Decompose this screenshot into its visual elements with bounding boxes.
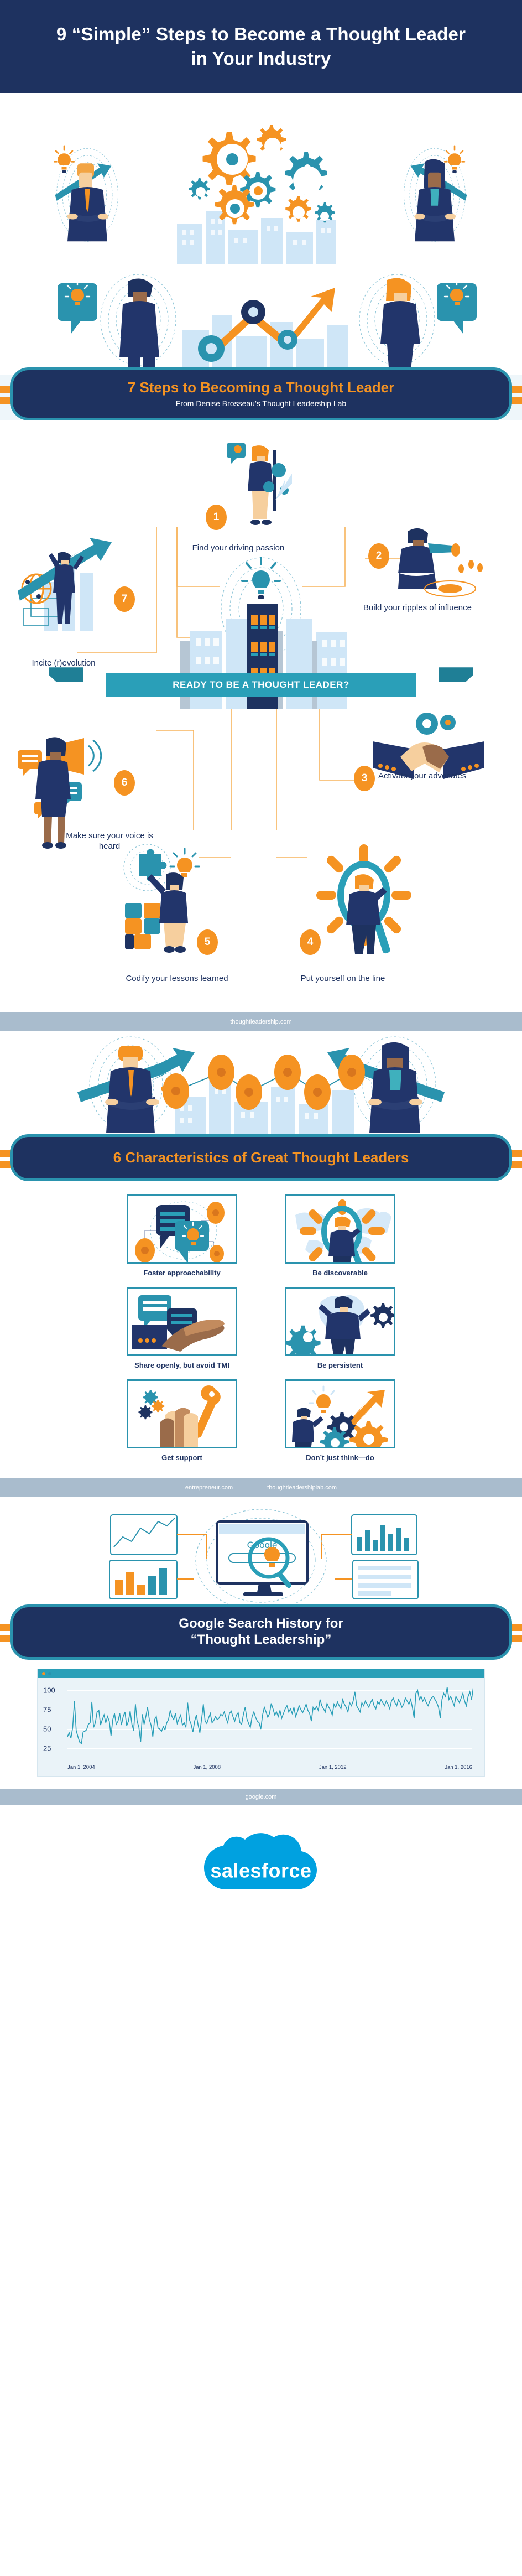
source-bar-two: entrepreneur.com thoughtleadershiplab.co…	[0, 1478, 522, 1497]
characteristic-card: Foster approachability	[127, 1194, 237, 1277]
y-tick-label: 50	[43, 1725, 51, 1733]
idea-bulb-icon	[445, 146, 464, 173]
banner-title-line1: Google Search History for	[51, 1616, 471, 1632]
card-label: Be discoverable	[285, 1269, 395, 1277]
open-hand-icon	[128, 1289, 237, 1356]
speech-bubbles-icon	[128, 1196, 237, 1264]
gear-cluster-graphic	[182, 118, 348, 235]
chart-x-axis: Jan 1, 2004 Jan 1, 2008 Jan 1, 2012 Jan …	[38, 1762, 484, 1776]
card-label: Foster approachability	[127, 1269, 237, 1277]
source-bar-one: thoughtleadership.com	[0, 1012, 522, 1031]
x-tick-label: Jan 1, 2004	[67, 1764, 95, 1770]
y-tick-label: 25	[43, 1744, 51, 1752]
step-3-illustration	[365, 713, 492, 779]
card-illustration	[285, 1379, 395, 1448]
logo-wordmark: salesforce	[192, 1860, 330, 1883]
two-leaders-graphic	[0, 264, 522, 375]
arrow-gears-icon	[286, 1381, 395, 1448]
source-label: thoughtleadership.com	[230, 1019, 291, 1025]
step-label-1: Find your driving passion	[186, 543, 291, 554]
banner-title-line2: “Thought Leadership”	[51, 1632, 471, 1648]
step-2-illustration	[391, 521, 491, 604]
characteristics-grid-section: Foster approachability	[0, 1181, 522, 1478]
characteristic-card: Don’t just think—do	[285, 1379, 395, 1462]
section-google-search: Google Google Search History for “Though…	[0, 1497, 522, 1805]
step-number-4: 4	[300, 929, 321, 955]
step-label-2: Build your ripples of influence	[348, 603, 487, 614]
step-number-2: 2	[368, 543, 389, 569]
step-7-illustration	[11, 520, 116, 631]
step-number-1: 1	[206, 505, 227, 530]
seven-steps-diagram: 1 Find your driving passion	[0, 420, 522, 1012]
search-trend-chart: 100 75 50 25 Jan 1, 2004 Jan 1, 2008 Jan…	[37, 1669, 485, 1777]
salesforce-logo-section: salesforce	[0, 1805, 522, 1940]
step-label-4: Put yourself on the line	[276, 974, 409, 984]
banner-title: 7 Steps to Becoming a Thought Leader	[51, 379, 471, 396]
businesswoman-figure-right	[401, 127, 468, 260]
idea-bulb-icon	[242, 558, 280, 599]
section-seven-steps: 7 Steps to Becoming a Thought Leader Fro…	[0, 264, 522, 1031]
source-label: thoughtleadershiplab.com	[267, 1484, 337, 1491]
banner-title: 6 Characteristics of Great Thought Leade…	[51, 1149, 471, 1166]
card-label: Get support	[127, 1453, 237, 1462]
infographic-page: 9 “Simple” Steps to Become a Thought Lea…	[0, 0, 522, 1940]
businessman-figure-left	[54, 127, 121, 260]
card-label: Don’t just think—do	[285, 1453, 395, 1462]
speech-bubble-bulb-icon	[437, 281, 477, 334]
banner-seven-steps: 7 Steps to Becoming a Thought Leader Fro…	[0, 367, 522, 420]
businessman-figure	[105, 1046, 159, 1133]
hands-wrench-icon	[128, 1381, 237, 1448]
salesforce-logo: salesforce	[192, 1829, 330, 1912]
step-5-illustration	[115, 841, 209, 957]
step-label-7: Incite (r)evolution	[11, 658, 116, 669]
card-illustration	[285, 1194, 395, 1264]
characteristic-card: Be discoverable	[285, 1194, 395, 1277]
card-label: Share openly, but avoid TMI	[127, 1361, 237, 1369]
page-title: 9 “Simple” Steps to Become a Thought Lea…	[51, 22, 471, 70]
monitor-illustration: Google	[0, 1507, 522, 1612]
x-tick-label: Jan 1, 2008	[193, 1764, 221, 1770]
stacked-hands-icon	[160, 1408, 198, 1449]
card-illustration	[285, 1287, 395, 1356]
y-tick-label: 75	[43, 1705, 51, 1713]
characteristic-card: Be persistent	[285, 1287, 395, 1369]
section-six-characteristics: 6 Characteristics of Great Thought Leade…	[0, 1031, 522, 1497]
step-label-6: Make sure your voice is heard	[60, 831, 159, 852]
section-two-illustration	[0, 1031, 522, 1142]
characteristic-card: Get support	[127, 1379, 237, 1462]
gears-person-icon	[286, 1289, 395, 1356]
window-dot-orange	[42, 1672, 45, 1675]
source-bar-three: google.com	[0, 1789, 522, 1805]
idea-bulb-icon	[54, 146, 74, 173]
step-1-illustration	[226, 439, 292, 533]
businesswoman-figure	[368, 1042, 422, 1133]
step-4-illustration	[313, 844, 413, 955]
source-label: google.com	[246, 1794, 277, 1800]
source-label: entrepreneur.com	[185, 1484, 233, 1491]
idea-bulb-icon	[310, 1386, 334, 1413]
step-number-5: 5	[197, 929, 218, 955]
window-dot-teal	[48, 1672, 51, 1675]
characteristics-grid: Foster approachability	[0, 1194, 522, 1462]
banner-subtitle: From Denise Brosseau’s Thought Leadershi…	[51, 399, 471, 408]
step-number-3: 3	[354, 766, 375, 791]
x-tick-label: Jan 1, 2016	[445, 1764, 472, 1770]
chart-window-bar	[38, 1669, 484, 1678]
businessman-figure	[119, 279, 159, 376]
page-header: 9 “Simple” Steps to Become a Thought Lea…	[0, 0, 522, 93]
businessman-figure	[292, 1408, 323, 1449]
section-one-illustration	[0, 264, 522, 375]
card-illustration	[127, 1194, 237, 1264]
businesswoman-figure	[380, 278, 420, 375]
card-illustration	[127, 1379, 237, 1448]
banner-six-characteristics: 6 Characteristics of Great Thought Leade…	[0, 1134, 522, 1181]
step-number-6: 6	[114, 770, 135, 796]
banner-google-search: Google Search History for “Thought Leade…	[0, 1604, 522, 1660]
card-label: Be persistent	[285, 1361, 395, 1369]
step-label-5: Codify your lessons learned	[105, 974, 249, 984]
speech-bubble-bulb-icon	[58, 281, 97, 334]
ribbon-text: READY TO BE A THOUGHT LEADER?	[106, 673, 416, 697]
hero-illustration	[0, 93, 522, 264]
magnifier-globe-icon	[286, 1196, 395, 1264]
trend-line	[67, 1678, 473, 1762]
chart-plot-area: 100 75 50 25	[38, 1678, 484, 1762]
ready-ribbon: READY TO BE A THOUGHT LEADER?	[77, 673, 445, 697]
step-number-7: 7	[114, 586, 135, 612]
gear-chain-graphic	[0, 1031, 522, 1142]
step-label-3: Activate your advocates	[378, 771, 511, 782]
y-tick-label: 100	[43, 1686, 55, 1694]
dashboard-graphic: Google	[0, 1507, 522, 1612]
x-tick-label: Jan 1, 2012	[319, 1764, 347, 1770]
card-illustration	[127, 1287, 237, 1356]
characteristic-card: Share openly, but avoid TMI	[127, 1287, 237, 1369]
